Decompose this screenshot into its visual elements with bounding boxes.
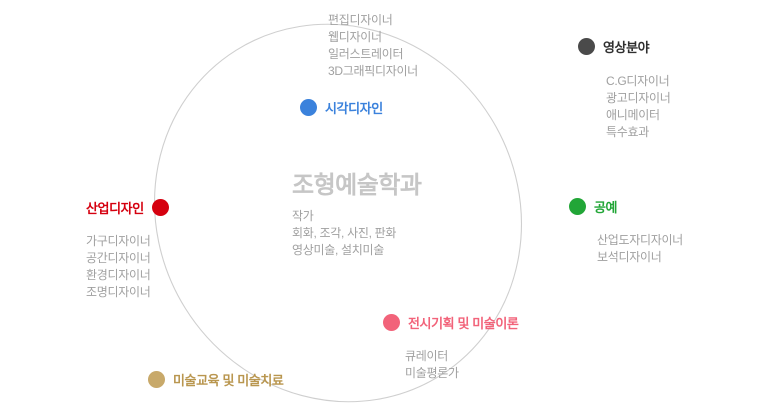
node-exhibition-theory-sublist: 큐레이터 미술평론가 bbox=[405, 348, 518, 382]
node-industrial-design-sublist: 가구디자이너 공간디자이너 환경디자이너 조명디자이너 bbox=[86, 233, 169, 301]
sub-item: 애니메이터 bbox=[606, 107, 670, 124]
art-education-dot bbox=[148, 371, 165, 388]
sub-item: 가구디자이너 bbox=[86, 233, 169, 250]
node-craft-row[interactable]: 공예 bbox=[569, 197, 683, 216]
sub-item: 공간디자이너 bbox=[86, 250, 169, 267]
sub-item: 광고디자이너 bbox=[606, 90, 670, 107]
node-exhibition-theory-row[interactable]: 전시기획 및 미술이론 bbox=[383, 313, 518, 332]
node-craft-label: 공예 bbox=[594, 197, 617, 216]
sub-item: 일러스트레이터 bbox=[328, 46, 418, 63]
node-industrial-design-row[interactable]: 산업디자인 bbox=[86, 198, 169, 217]
node-exhibition-theory-label: 전시기획 및 미술이론 bbox=[408, 313, 518, 332]
node-industrial-design-label: 산업디자인 bbox=[86, 198, 144, 217]
node-industrial-design[interactable]: 산업디자인 가구디자이너 공간디자이너 환경디자이너 조명디자이너 bbox=[86, 198, 169, 301]
sub-item: 3D그래픽디자이너 bbox=[328, 63, 418, 80]
node-exhibition-theory[interactable]: 전시기획 및 미술이론 큐레이터 미술평론가 bbox=[383, 313, 518, 382]
sub-item: 웹디자이너 bbox=[328, 29, 418, 46]
center-line: 작가 bbox=[292, 208, 522, 225]
node-visual-design-sublist: 편집디자이너 웹디자이너 일러스트레이터 3D그래픽디자이너 bbox=[328, 12, 418, 80]
sub-item: 산업도자디자이너 bbox=[597, 232, 683, 249]
craft-dot bbox=[569, 198, 586, 215]
career-map-diagram: 조형예술학과 작가 회화, 조각, 사진, 판화 영상미술, 설치미술 시각디자… bbox=[0, 0, 770, 412]
sub-item: 환경디자이너 bbox=[86, 267, 169, 284]
sub-item: 큐레이터 bbox=[405, 348, 518, 365]
visual-design-dot bbox=[300, 99, 317, 116]
node-video-field[interactable]: 영상분야 C.G디자이너 광고디자이너 애니메이터 특수효과 bbox=[578, 37, 670, 141]
node-video-field-label: 영상분야 bbox=[603, 37, 649, 56]
center-line: 영상미술, 설치미술 bbox=[292, 242, 522, 259]
node-art-education-row[interactable]: 미술교육 및 미술치료 bbox=[148, 370, 283, 389]
center-description: 작가 회화, 조각, 사진, 판화 영상미술, 설치미술 bbox=[292, 208, 522, 259]
node-video-field-sublist: C.G디자이너 광고디자이너 애니메이터 특수효과 bbox=[606, 73, 670, 141]
center-department-block: 조형예술학과 작가 회화, 조각, 사진, 판화 영상미술, 설치미술 bbox=[292, 172, 522, 259]
node-art-education-label: 미술교육 및 미술치료 bbox=[173, 370, 283, 389]
node-art-education[interactable]: 미술교육 및 미술치료 bbox=[148, 370, 283, 389]
center-line: 회화, 조각, 사진, 판화 bbox=[292, 225, 522, 242]
node-visual-design-row[interactable]: 시각디자인 bbox=[300, 98, 383, 117]
node-craft-sublist: 산업도자디자이너 보석디자이너 bbox=[597, 232, 683, 266]
sub-item: 편집디자이너 bbox=[328, 12, 418, 29]
industrial-design-dot bbox=[152, 199, 169, 216]
sub-item: 미술평론가 bbox=[405, 365, 518, 382]
node-visual-design[interactable]: 시각디자인 편집디자이너 웹디자이너 일러스트레이터 3D그래픽디자이너 bbox=[300, 98, 383, 117]
sub-item: 특수효과 bbox=[606, 124, 670, 141]
exhibition-theory-dot bbox=[383, 314, 400, 331]
node-visual-design-label: 시각디자인 bbox=[325, 98, 383, 117]
node-video-field-row[interactable]: 영상분야 bbox=[578, 37, 670, 56]
page-title: 조형예술학과 bbox=[292, 172, 522, 200]
sub-item: 조명디자이너 bbox=[86, 284, 169, 301]
video-field-dot bbox=[578, 38, 595, 55]
sub-item: 보석디자이너 bbox=[597, 249, 683, 266]
sub-item: C.G디자이너 bbox=[606, 73, 670, 90]
node-craft[interactable]: 공예 산업도자디자이너 보석디자이너 bbox=[569, 197, 683, 266]
